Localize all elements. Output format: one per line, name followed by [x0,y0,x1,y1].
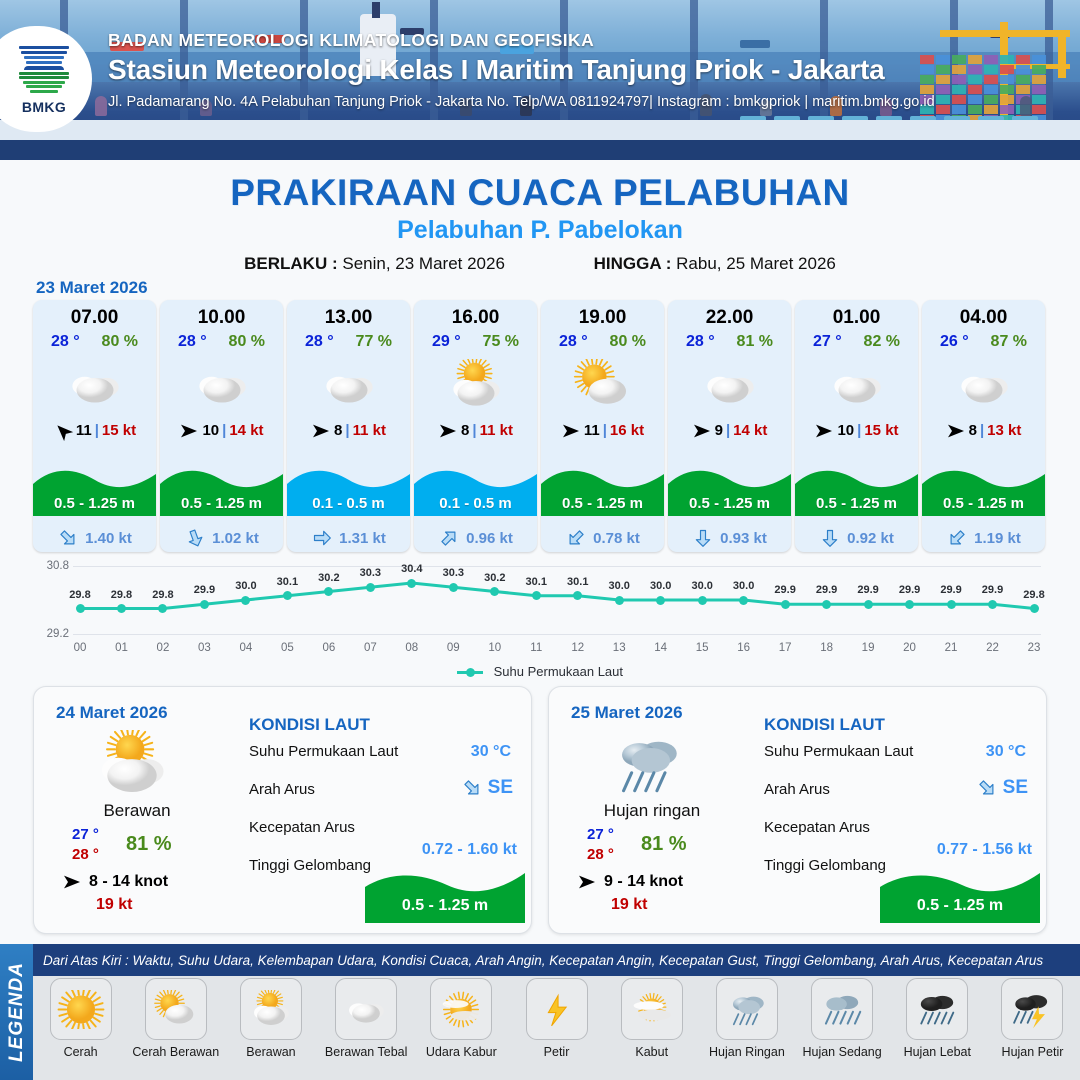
bmkg-logo-mark [16,44,72,96]
sea-condition-row: Suhu Permukaan Laut30 °C [249,743,519,760]
panel-date: 24 Maret 2026 [56,703,168,723]
x-axis-tick: 14 [654,642,667,654]
card-humidity: 80 % [610,333,646,351]
data-label: 29.9 [857,584,878,596]
valid-from-label: BERLAKU : [244,254,338,273]
legend-item-label: Udara Kabur [426,1045,497,1059]
sst-legend-label: Suhu Permukaan Laut [494,664,623,679]
wind-gust: 16 kt [610,422,644,439]
wind-separator: | [472,422,476,439]
wind-direction-arrow-icon [438,423,458,439]
data-label: 30.0 [235,580,256,592]
data-label: 30.1 [526,576,547,588]
current-speed: 1.02 kt [212,530,259,547]
forecast-card: 07.00 28 ° 80 % 11 | 15 kt [33,300,156,552]
card-temperature: 26 ° [940,333,969,351]
panel-wind-speed: 9 - 14 knot [604,873,683,891]
daily-summary-panel: 25 Maret 2026 Hujan ringan 27 ° 28 ° 81 … [548,686,1047,934]
card-humidity: 80 % [229,333,265,351]
legend-item: Petir [509,978,604,1078]
wind-gust: 11 kt [353,422,386,439]
card-wind: 9 | 14 kt [668,422,791,439]
legend-items: Cerah Cerah Berawan [33,978,1080,1078]
wind-speed: 8 [969,422,977,439]
card-temperature: 28 ° [559,333,588,351]
data-label: 29.9 [899,584,920,596]
sst-chart: 29.829.829.829.930.030.130.230.330.430.3… [33,560,1047,680]
legend-item-label: Berawan [246,1045,295,1059]
weather-partly-icon [414,354,537,416]
current-direction: SE [976,777,1028,799]
wind-direction-arrow-icon [179,423,199,439]
x-axis-tick: 02 [157,642,170,654]
card-humidity: 82 % [864,333,900,351]
y-axis-tick: 30.8 [33,560,69,572]
legend-item-label: Hujan Petir [1002,1045,1064,1059]
weather-berawan-tebal-icon [335,978,397,1040]
data-label: 30.2 [318,572,339,584]
panel-temp-min: 27 ° [72,825,99,845]
legend-item: Berawan [223,978,318,1078]
card-time: 01.00 [795,307,918,329]
card-wind: 10 | 15 kt [795,422,918,439]
forecast-day-label: 23 Maret 2026 [36,278,148,298]
x-axis-tick: 18 [820,642,833,654]
legend-item-label: Petir [544,1045,570,1059]
card-time: 19.00 [541,307,664,329]
legend-item: Kabut [604,978,699,1078]
wind-separator: | [345,422,349,439]
data-label: 30.3 [443,567,464,579]
current-direction-arrow-icon [946,528,968,548]
data-label: 30.0 [650,580,671,592]
wind-separator: | [222,422,226,439]
wind-direction-arrow-icon [62,874,82,890]
hourly-forecast-cards: 07.00 28 ° 80 % 11 | 15 kt [33,300,1047,552]
daily-summary-panel: 24 Maret 2026 Berawan 27 ° 28 ° 81 % [33,686,532,934]
daily-summary-panels: 24 Maret 2026 Berawan 27 ° 28 ° 81 % [33,686,1047,934]
card-wind: 8 | 11 kt [287,422,410,439]
card-current: 0.93 kt [668,528,791,548]
x-axis-tick: 23 [1028,642,1041,654]
data-point [615,596,624,605]
forecast-card: 19.00 28 ° 80 % 11 | 16 kt 0 [541,300,664,552]
data-point [781,600,790,609]
data-label: 30.4 [401,563,422,575]
data-label: 30.1 [567,576,588,588]
x-axis-tick: 22 [986,642,999,654]
wind-gust: 13 kt [987,422,1021,439]
valid-until-group: HINGGA : Rabu, 25 Maret 2026 [594,254,836,274]
wind-separator: | [980,422,984,439]
current-direction-arrow-icon [461,778,483,798]
card-temp-humidity: 28 ° 80 % [160,333,283,351]
row-value: 30 °C [471,743,511,761]
card-wind: 11 | 15 kt [33,422,156,439]
wind-speed: 9 [715,422,723,439]
card-time: 16.00 [414,307,537,329]
wind-direction-arrow-icon [53,423,73,439]
x-axis-tick: 00 [74,642,87,654]
panel-gust: 19 kt [611,896,647,914]
wave-height: 0.5 - 1.25 m [795,495,918,512]
wind-speed: 11 [76,422,92,439]
row-label: Arah Arus [764,781,830,798]
sst-legend-marker [457,671,483,674]
x-axis-tick: 01 [115,642,128,654]
card-time: 10.00 [160,307,283,329]
wind-gust: 15 kt [864,422,898,439]
card-time: 04.00 [922,307,1045,329]
card-temp-humidity: 28 ° 80 % [541,333,664,351]
wave-height: 0.5 - 1.25 m [160,495,283,512]
station-name: Stasiun Meteorologi Kelas I Maritim Tanj… [108,54,1068,86]
row-label: Kecepatan Arus [764,819,870,836]
sea-condition-row: Kecepatan Arus0.77 - 1.56 kt [764,819,1034,836]
wave-height: 0.5 - 1.25 m [922,495,1045,512]
card-temp-humidity: 28 ° 80 % [33,333,156,351]
data-label: 30.0 [608,580,629,592]
data-point [1030,604,1039,613]
legend-item-label: Hujan Ringan [709,1045,785,1059]
data-point [947,600,956,609]
valid-until-label: HINGGA : [594,254,672,273]
card-temperature: 28 ° [305,333,334,351]
validity-row: BERLAKU : Senin, 23 Maret 2026 HINGGA : … [0,254,1080,274]
contact-line: Jl. Padamarang No. 4A Pelabuhan Tanjung … [108,94,1068,110]
x-axis-tick: 10 [488,642,501,654]
legend-side-title-text: LEGENDA [6,962,28,1062]
panel-wind-speed: 8 - 14 knot [89,873,168,891]
card-current: 1.19 kt [922,528,1045,548]
weather-hujan-ringan-icon [716,978,778,1040]
data-point [76,604,85,613]
wind-speed: 8 [334,422,342,439]
x-axis-tick: 13 [613,642,626,654]
card-temp-humidity: 28 ° 77 % [287,333,410,351]
current-speed: 0.92 kt [847,530,894,547]
card-time: 22.00 [668,307,791,329]
panel-wind: 8 - 14 knot [62,873,168,891]
panel-wind: 9 - 14 knot [577,873,683,891]
data-label: 29.9 [774,584,795,596]
card-wind: 11 | 16 kt [541,422,664,439]
card-current: 1.31 kt [287,528,410,548]
legend-side-title: LEGENDA [0,944,33,1080]
x-axis-tick: 19 [862,642,875,654]
legend-item: Cerah [33,978,128,1078]
legend-item: Cerah Berawan [128,978,223,1078]
forecast-card: 01.00 27 ° 82 % 10 | 15 kt [795,300,918,552]
sea-condition-row: Kecepatan Arus0.72 - 1.60 kt [249,819,519,836]
wind-separator: | [857,422,861,439]
data-point [117,604,126,613]
legend-note: Dari Atas Kiri : Waktu, Suhu Udara, Kele… [33,944,1080,976]
data-point [739,596,748,605]
card-current: 0.92 kt [795,528,918,548]
bmkg-logo-text: BMKG [22,99,66,115]
sea-condition-row: Arah Arus SE [249,781,519,798]
x-axis-tick: 16 [737,642,750,654]
legend-item-label: Cerah [64,1045,98,1059]
card-wind: 8 | 11 kt [414,422,537,439]
forecast-card: 13.00 28 ° 77 % 8 | 11 kt [287,300,410,552]
weather-cloudy-icon [160,354,283,416]
current-speed: 1.40 kt [85,530,132,547]
header-banner: BMKG BADAN METEOROLOGI KLIMATOLOGI DAN G… [0,0,1080,160]
data-label: 29.9 [816,584,837,596]
x-axis-tick: 07 [364,642,377,654]
data-label: 30.3 [360,567,381,579]
data-point [988,600,997,609]
current-direction-arrow-icon [184,528,206,548]
wave-height: 0.1 - 0.5 m [287,495,410,512]
legend-bar: LEGENDA Dari Atas Kiri : Waktu, Suhu Uda… [0,944,1080,1080]
legend-item-label: Hujan Lebat [904,1045,971,1059]
data-point [905,600,914,609]
current-speed: 1.31 kt [339,530,386,547]
data-label: 30.1 [277,576,298,588]
data-point [698,596,707,605]
current-direction-arrow-icon [692,528,714,548]
card-humidity: 80 % [102,333,138,351]
wind-speed: 10 [202,422,219,439]
card-time: 07.00 [33,307,156,329]
data-point [822,600,831,609]
x-axis-tick: 04 [240,642,253,654]
forecast-card: 22.00 28 ° 81 % 9 | 14 kt [668,300,791,552]
legend-item-label: Hujan Sedang [802,1045,881,1059]
card-wind: 10 | 14 kt [160,422,283,439]
data-label: 29.9 [982,584,1003,596]
forecast-card: 10.00 28 ° 80 % 10 | 14 kt [160,300,283,552]
wind-direction-arrow-icon [311,423,331,439]
data-label: 30.0 [733,580,754,592]
weather-hujan-sedang-icon [811,978,873,1040]
x-axis-tick: 06 [322,642,335,654]
wave-height: 0.5 - 1.25 m [541,495,664,512]
row-label: Suhu Permukaan Laut [249,743,398,760]
weather-cerah-icon [50,978,112,1040]
card-time: 13.00 [287,307,410,329]
wind-gust: 15 kt [102,422,136,439]
wave-height: 0.1 - 0.5 m [414,495,537,512]
x-axis-tick: 03 [198,642,211,654]
row-label: Arah Arus [249,781,315,798]
data-point [449,583,458,592]
wind-direction-arrow-icon [814,423,834,439]
wave-height: 0.5 - 1.25 m [668,495,791,512]
panel-temp-min: 27 ° [587,825,614,845]
sea-conditions-heading: KONDISI LAUT [249,715,519,735]
x-axis-tick: 08 [405,642,418,654]
panel-condition: Hujan ringan [557,801,747,821]
wind-direction-arrow-icon [577,874,597,890]
sea-condition-row: Arah Arus SE [764,781,1034,798]
data-point [366,583,375,592]
current-direction-label: SE [1003,777,1028,799]
weather-partly-icon [82,729,182,799]
weather-rain-icon [597,729,697,799]
page-title: PRAKIRAAN CUACA PELABUHAN [0,172,1080,214]
y-axis-tick: 29.2 [33,628,69,640]
forecast-card: 04.00 26 ° 87 % 8 | 13 kt [922,300,1045,552]
card-current: 0.78 kt [541,528,664,548]
legend-item: Hujan Petir [985,978,1080,1078]
wind-direction-arrow-icon [561,423,581,439]
wind-speed: 10 [837,422,854,439]
wind-gust: 14 kt [733,422,767,439]
data-label: 29.9 [940,584,961,596]
x-axis-tick: 05 [281,642,294,654]
legend-item: Berawan Tebal [319,978,414,1078]
card-humidity: 75 % [483,333,519,351]
sea-condition-row: Suhu Permukaan Laut30 °C [764,743,1034,760]
sea-conditions-heading: KONDISI LAUT [764,715,1034,735]
x-axis-tick: 15 [696,642,709,654]
card-temp-humidity: 28 ° 81 % [668,333,791,351]
card-humidity: 87 % [991,333,1027,351]
wind-gust: 14 kt [229,422,263,439]
current-direction-label: SE [488,777,513,799]
card-current: 1.40 kt [33,528,156,548]
weather-petir-icon [526,978,588,1040]
panel-humidity: 81 % [126,833,172,856]
weather-cloudy-icon [668,354,791,416]
current-speed: 0.96 kt [466,530,513,547]
panel-temp-max: 28 ° [587,845,614,865]
card-humidity: 77 % [356,333,392,351]
legend-item-label: Cerah Berawan [132,1045,219,1059]
forecast-card: 16.00 29 ° 75 % 8 | 11 kt [414,300,537,552]
weather-cloudy-icon [795,354,918,416]
current-speed: 0.78 kt [593,530,640,547]
card-wind: 8 | 13 kt [922,422,1045,439]
panel-wave-height: 0.5 - 1.25 m [365,897,525,915]
current-direction: SE [461,777,513,799]
row-label: Tinggi Gelombang [764,857,886,874]
panel-wave-height: 0.5 - 1.25 m [880,897,1040,915]
data-point [241,596,250,605]
sst-chart-plot: 29.829.829.829.930.030.130.230.330.430.3… [73,566,1041,634]
card-temperature: 28 ° [686,333,715,351]
row-label: Kecepatan Arus [249,819,355,836]
current-direction-arrow-icon [311,528,333,548]
data-point [864,600,873,609]
current-speed: 1.19 kt [974,530,1021,547]
data-label: 29.9 [194,584,215,596]
legend-item-label: Berawan Tebal [325,1045,407,1059]
wind-separator: | [726,422,730,439]
panel-condition: Berawan [42,801,232,821]
row-label: Tinggi Gelombang [249,857,371,874]
wind-gust: 11 kt [480,422,513,439]
data-label: 29.8 [152,589,173,601]
row-value: 30 °C [986,743,1026,761]
panel-temperatures: 27 ° 28 ° [72,825,99,865]
card-current: 1.02 kt [160,528,283,548]
row-label: Suhu Permukaan Laut [764,743,913,760]
valid-from-value: Senin, 23 Maret 2026 [342,254,505,273]
weather-hujan-petir-icon [1001,978,1063,1040]
panel-temp-max: 28 ° [72,845,99,865]
card-temp-humidity: 29 ° 75 % [414,333,537,351]
weather-cloudy-icon [33,354,156,416]
weather-kabut-icon [621,978,683,1040]
legend-item: Hujan Sedang [795,978,890,1078]
current-direction-arrow-icon [819,528,841,548]
banner-bottom-strip [0,140,1080,160]
weather-cerah-berawan-icon [145,978,207,1040]
card-temperature: 28 ° [51,333,80,351]
legend-item: Hujan Lebat [890,978,985,1078]
header-text-block: BADAN METEOROLOGI KLIMATOLOGI DAN GEOFIS… [108,30,1068,110]
panel-humidity: 81 % [641,833,687,856]
weather-udara-kabur-icon [430,978,492,1040]
weather-sunnycloud-icon [541,354,664,416]
current-direction-arrow-icon [57,528,79,548]
data-label: 29.8 [111,589,132,601]
weather-hujan-lebat-icon [906,978,968,1040]
current-direction-arrow-icon [976,778,998,798]
x-axis-tick: 17 [779,642,792,654]
legend-item: Hujan Ringan [699,978,794,1078]
data-label: 29.8 [69,589,90,601]
page-subtitle: Pelabuhan P. Pabelokan [0,216,1080,245]
card-temperature: 27 ° [813,333,842,351]
x-axis-tick: 09 [447,642,460,654]
wind-direction-arrow-icon [692,423,712,439]
valid-from-group: BERLAKU : Senin, 23 Maret 2026 [244,254,505,274]
data-point [532,591,541,600]
x-axis-tick: 20 [903,642,916,654]
agency-name: BADAN METEOROLOGI KLIMATOLOGI DAN GEOFIS… [108,30,1068,51]
weather-berawan-icon [240,978,302,1040]
weather-cloudy-icon [287,354,410,416]
card-temperature: 28 ° [178,333,207,351]
card-temperature: 29 ° [432,333,461,351]
legend-item-label: Kabut [635,1045,668,1059]
current-speed: 0.93 kt [720,530,767,547]
wind-speed: 8 [461,422,469,439]
x-axis-tick: 11 [530,642,542,654]
x-axis-tick: 21 [945,642,958,654]
wind-speed: 11 [584,422,600,439]
card-humidity: 81 % [737,333,773,351]
wind-direction-arrow-icon [946,423,966,439]
wave-height: 0.5 - 1.25 m [33,495,156,512]
weather-cloudy-icon [922,354,1045,416]
legend-item: Udara Kabur [414,978,509,1078]
wind-separator: | [603,422,607,439]
card-temp-humidity: 27 ° 82 % [795,333,918,351]
current-direction-arrow-icon [438,528,460,548]
card-current: 0.96 kt [414,528,537,548]
card-temp-humidity: 26 ° 87 % [922,333,1045,351]
data-point [407,579,416,588]
panel-date: 25 Maret 2026 [571,703,683,723]
sst-chart-legend: Suhu Permukaan Laut [33,664,1047,679]
panel-gust: 19 kt [96,896,132,914]
data-point [200,600,209,609]
panel-temperatures: 27 ° 28 ° [587,825,614,865]
wind-separator: | [95,422,99,439]
valid-until-value: Rabu, 25 Maret 2026 [676,254,836,273]
data-point [656,596,665,605]
current-direction-arrow-icon [565,528,587,548]
data-label: 30.2 [484,572,505,584]
data-label: 30.0 [691,580,712,592]
